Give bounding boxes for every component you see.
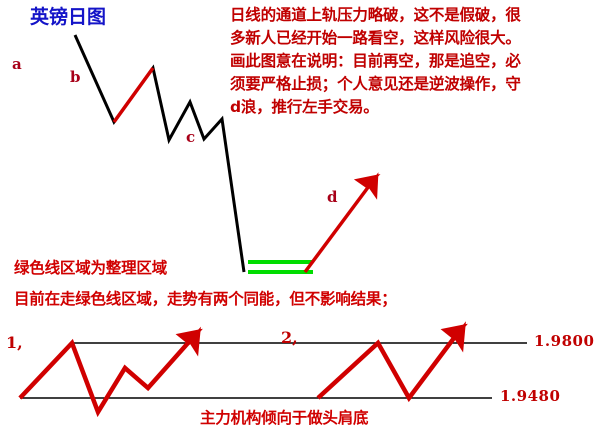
wave-label-c: c — [186, 130, 195, 145]
main-wave-black-path — [75, 35, 244, 272]
wave-label-d: d — [327, 190, 338, 205]
wave-label-a: a — [12, 57, 22, 72]
scenario-2-label: 2, — [281, 330, 298, 346]
commentary-line-4: 须要严格止损；个人意见还是逆波操作，守 — [230, 72, 602, 94]
wave-d-arrow-head — [357, 176, 377, 196]
commentary-block: 日线的通道上轨压力略破，这不是假破，很 多新人已经开始一路看空，这样风险很大。 … — [230, 3, 602, 118]
wave-label-b: b — [70, 70, 81, 85]
commentary-line-3: 画此图意在说明：目前再空，那是追空，必 — [230, 49, 602, 71]
wave-b-red-segment — [114, 68, 153, 122]
page-title: 英镑日图 — [30, 8, 106, 27]
commentary-line-2: 多新人已经开始一路看空，这样风险很大。 — [230, 26, 602, 48]
note-bottom: 主力机构倾向于做头肩底 — [200, 411, 368, 427]
commentary-line-5: d浪，推行左手交易。 — [230, 95, 602, 117]
note-current-state: 目前在走绿色线区域，走势有两个同能，但不影响结果； — [14, 292, 397, 308]
scenario-2-pattern-path — [318, 330, 460, 398]
note-green-zone: 绿色线区域为整理区域 — [14, 261, 167, 277]
scenario-1-label: 1, — [6, 335, 23, 351]
chart-canvas: 英镑日图 日线的通道上轨压力略破，这不是假破，很 多新人已经开始一路看空，这样风… — [0, 0, 605, 444]
price-label-lower: 1.9480 — [500, 389, 560, 404]
commentary-line-1: 日线的通道上轨压力略破，这不是假破，很 — [230, 3, 602, 25]
scenario-1-pattern-path — [20, 334, 196, 412]
wave-d-arrow-shaft — [305, 182, 372, 272]
price-label-upper: 1.9800 — [534, 334, 594, 349]
